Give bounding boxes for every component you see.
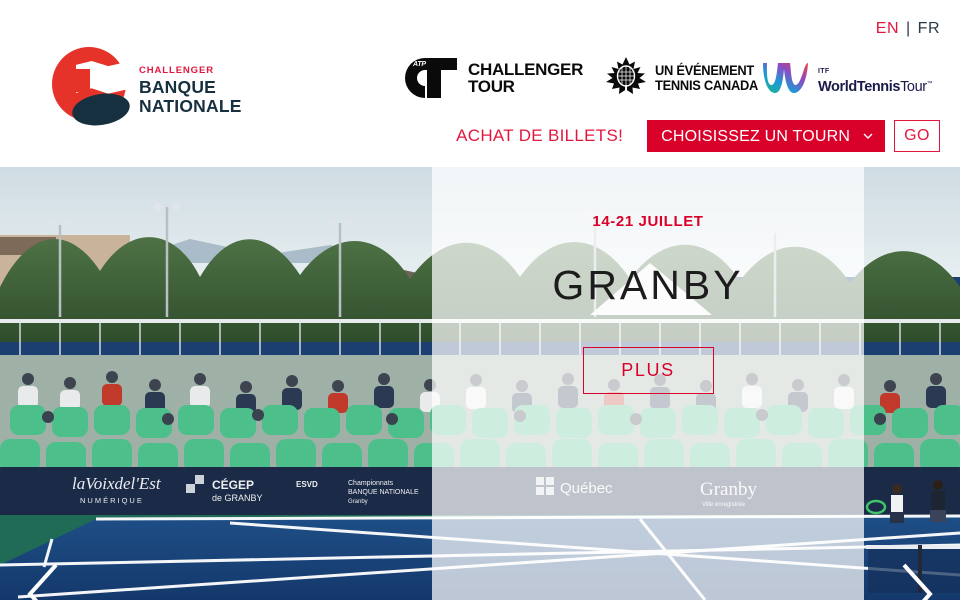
tickets-label: ACHAT DE BILLETS! [456, 120, 647, 152]
svg-text:Granby: Granby [348, 499, 368, 505]
language-separator: | [906, 20, 911, 38]
carousel-prev-arrow-icon[interactable] [22, 559, 68, 600]
hero-carousel: laVoixdel'Est NUMÉRIQUE CÉGEP de GRANBY … [0, 167, 960, 600]
partner-logo-atp-challenger-tour[interactable]: ATP CHALLENGER TOUR [405, 58, 583, 98]
svg-text:ESVD: ESVD [296, 480, 318, 489]
svg-text:NUMÉRIQUE: NUMÉRIQUE [80, 496, 144, 505]
tennis-canada-line-1: UN ÉVÉNEMENT [655, 63, 758, 78]
atp-line-2: TOUR [468, 78, 583, 95]
atp-mark-icon: ATP [405, 58, 460, 98]
svg-text:CÉGEP: CÉGEP [212, 477, 254, 492]
language-switcher[interactable]: EN | FR [876, 20, 940, 38]
atp-line-1: CHALLENGER [468, 61, 583, 78]
itf-trademark: ™ [927, 81, 933, 87]
svg-text:laVoixdel'Est: laVoixdel'Est [72, 474, 162, 493]
partner-logo-itf-world-tennis-tour[interactable]: ITF WorldTennisTour™ [760, 57, 932, 97]
carousel-next-arrow-icon[interactable] [892, 559, 938, 600]
hero-plus-button[interactable]: PLUS [583, 347, 714, 394]
tickets-bar: ACHAT DE BILLETS! CHOISISSEZ UN TOURNC G… [456, 120, 940, 152]
partner-logo-tennis-canada[interactable]: UN ÉVÉNEMENT TENNIS CANADA [605, 56, 767, 100]
itf-badge-label: ITF [818, 66, 932, 78]
hero-city-title: GRANBY [552, 262, 743, 309]
site-logo-challenger-banque-nationale[interactable]: CHALLENGER BANQUE NATIONALE [50, 44, 242, 128]
tournament-select[interactable]: CHOISISSEZ UN TOURNC [647, 120, 885, 152]
itf-w-mark-icon [760, 57, 812, 97]
language-option-fr[interactable]: FR [918, 20, 940, 38]
banque-nationale-mark-icon [50, 44, 130, 128]
logo-kicker: CHALLENGER [139, 65, 214, 76]
maple-leaf-racquet-icon [605, 56, 647, 100]
go-button[interactable]: GO [894, 120, 940, 152]
site-logo-text: CHALLENGER BANQUE NATIONALE [139, 56, 242, 116]
language-option-en[interactable]: EN [876, 20, 899, 38]
hero-content: 14-21 JUILLET GRANBY PLUS [432, 167, 864, 600]
site-header: EN | FR CHALLENGER BANQUE NATIONALE ATP … [0, 0, 960, 167]
logo-line-2: NATIONALE [139, 97, 242, 116]
svg-text:BANQUE NATIONALE: BANQUE NATIONALE [348, 489, 419, 496]
itf-name: WorldTennisTour™ [818, 78, 932, 93]
svg-text:Championnats: Championnats [348, 480, 394, 487]
itf-name-light: Tour [900, 78, 927, 94]
svg-text:de GRANBY: de GRANBY [212, 493, 263, 503]
tennis-canada-line-2: TENNIS CANADA [655, 78, 758, 93]
itf-name-bold: WorldTennis [818, 78, 900, 94]
tournament-select-wrapper: CHOISISSEZ UN TOURNC [647, 120, 885, 152]
atp-badge-label: ATP [413, 61, 426, 68]
logo-line-1: BANQUE [139, 78, 242, 97]
hero-date: 14-21 JUILLET [592, 213, 703, 230]
